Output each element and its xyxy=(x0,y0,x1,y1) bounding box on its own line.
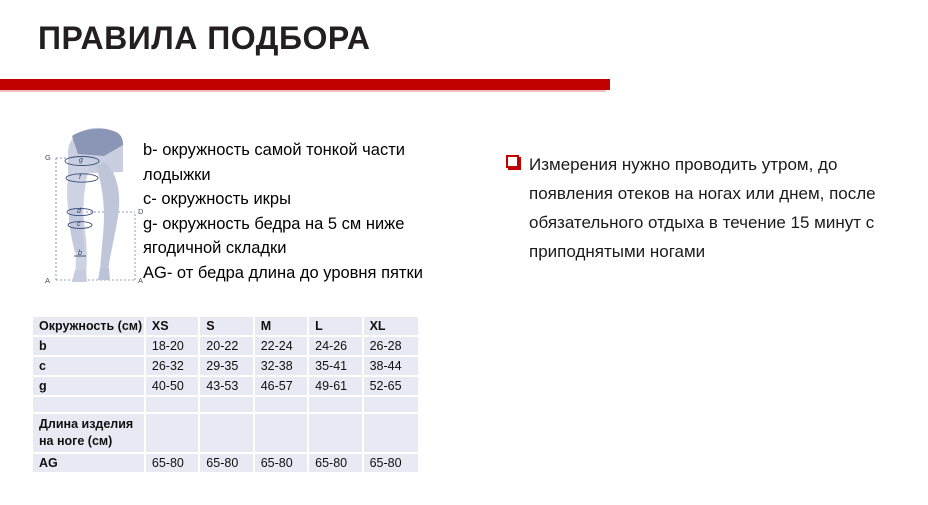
table-header-m: M xyxy=(255,317,309,337)
size-chart-table: Окружность (см) XS S M L XL b 18-20 20-2… xyxy=(33,317,418,472)
cell-length-m xyxy=(255,414,309,454)
cell-ag-m: 65-80 xyxy=(255,454,309,472)
cell-c-xs: 26-32 xyxy=(146,357,200,377)
square-bullet-icon xyxy=(506,155,519,168)
table-header-xs: XS xyxy=(146,317,200,337)
slide-root: ПРАВИЛА ПОДБОРА xyxy=(0,0,928,505)
cell-c-s: 29-35 xyxy=(200,357,254,377)
cell-b-xs: 18-20 xyxy=(146,337,200,357)
cell-b-s: 20-22 xyxy=(200,337,254,357)
cell-c-m: 32-38 xyxy=(255,357,309,377)
svg-text:A: A xyxy=(45,276,50,285)
cell-ag-xl: 65-80 xyxy=(364,454,418,472)
table-row: Длина изделия на ноге (см) xyxy=(33,414,418,454)
cell-length-l xyxy=(309,414,363,454)
table-spacer-row xyxy=(33,397,418,414)
spacer-cell-label xyxy=(33,397,146,414)
legend-line-g: g- окружность бедра на 5 см ниже ягодичн… xyxy=(143,212,443,261)
advice-bullet: Измерения нужно проводить утром, до появ… xyxy=(506,150,906,266)
legend-line-c: c- окружность икры xyxy=(143,187,443,212)
legend-line-b: b- окружность самой тонкой части лодыжки xyxy=(143,138,443,187)
svg-text:G: G xyxy=(45,153,51,162)
table-header-row: Окружность (см) XS S M L XL xyxy=(33,317,418,337)
table-row: c 26-32 29-35 32-38 35-41 38-44 xyxy=(33,357,418,377)
table-header-measure: Окружность (см) xyxy=(33,317,146,337)
cell-ag-s: 65-80 xyxy=(200,454,254,472)
svg-text:g: g xyxy=(79,157,83,164)
table-header-xl: XL xyxy=(364,317,418,337)
cell-g-l: 49-61 xyxy=(309,377,363,397)
cell-length-s xyxy=(200,414,254,454)
cell-b-l: 24-26 xyxy=(309,337,363,357)
spacer-cell-xs xyxy=(146,397,200,414)
table-row: b 18-20 20-22 22-24 24-26 26-28 xyxy=(33,337,418,357)
table-row: AG 65-80 65-80 65-80 65-80 65-80 xyxy=(33,454,418,472)
cell-g-xl: 52-65 xyxy=(364,377,418,397)
cell-c-l: 35-41 xyxy=(309,357,363,377)
cell-length-xl xyxy=(364,414,418,454)
cell-ag-l: 65-80 xyxy=(309,454,363,472)
spacer-cell-s xyxy=(200,397,254,414)
cell-g-xs: 40-50 xyxy=(146,377,200,397)
table-header-l: L xyxy=(309,317,363,337)
row-label-ag: AG xyxy=(33,454,146,472)
spacer-cell-l xyxy=(309,397,363,414)
legend-line-ag: AG- от бедра длина до уровня пятки xyxy=(143,261,443,286)
cell-c-xl: 38-44 xyxy=(364,357,418,377)
cell-b-xl: 26-28 xyxy=(364,337,418,357)
cell-length-xs xyxy=(146,414,200,454)
page-title: ПРАВИЛА ПОДБОРА xyxy=(38,18,371,58)
spacer-cell-xl xyxy=(364,397,418,414)
table-row: g 40-50 43-53 46-57 49-61 52-65 xyxy=(33,377,418,397)
svg-text:c: c xyxy=(77,221,81,228)
svg-text:b: b xyxy=(78,250,82,257)
row-label-b: b xyxy=(33,337,146,357)
cell-g-m: 46-57 xyxy=(255,377,309,397)
spacer-cell-m xyxy=(255,397,309,414)
table-header-s: S xyxy=(200,317,254,337)
title-divider-shadow xyxy=(0,90,606,92)
title-divider-bar xyxy=(0,79,610,90)
row-label-g: g xyxy=(33,377,146,397)
leg-measurement-diagram: g f d c b G D A A xyxy=(42,112,157,292)
measurement-legend: b- окружность самой тонкой части лодыжки… xyxy=(143,138,443,285)
advice-bullet-text: Измерения нужно проводить утром, до появ… xyxy=(529,150,906,266)
cell-b-m: 22-24 xyxy=(255,337,309,357)
cell-g-s: 43-53 xyxy=(200,377,254,397)
row-label-c: c xyxy=(33,357,146,377)
cell-ag-xs: 65-80 xyxy=(146,454,200,472)
row-label-length: Длина изделия на ноге (см) xyxy=(33,414,146,454)
